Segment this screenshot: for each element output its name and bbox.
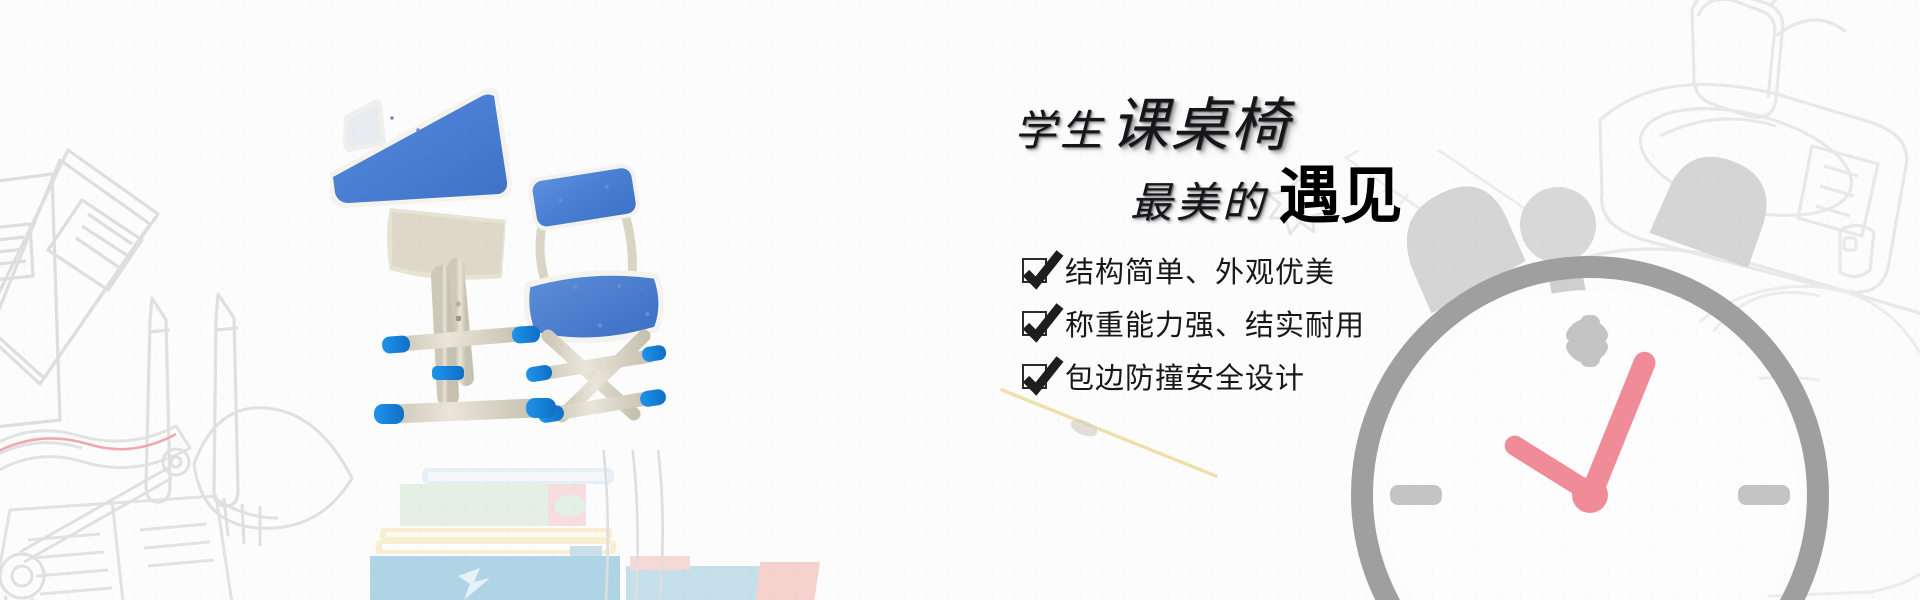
feature-list: 结构简单、外观优美 称重能力强、结实耐用 包边防撞安全设计 <box>1022 248 1502 407</box>
headline-group: 学生 课桌椅 最美的 遇见 <box>1010 96 1530 228</box>
checkbox-check-icon <box>1022 258 1047 283</box>
headline-line1-prefix: 学生 <box>1014 106 1106 155</box>
checkbox-check-icon <box>1022 364 1047 389</box>
student-desk-and-chair-photo <box>330 78 760 438</box>
checkbox-check-icon <box>1022 311 1047 336</box>
feature-item: 包边防撞安全设计 <box>1022 354 1502 398</box>
feature-item: 结构简单、外观优美 <box>1022 248 1502 292</box>
feature-label: 包边防撞安全设计 <box>1065 355 1305 397</box>
feature-item: 称重能力强、结实耐用 <box>1022 301 1502 345</box>
stacked-books-illustration <box>330 450 950 600</box>
headline-line2-prefix: 最美的 <box>1130 178 1268 227</box>
promo-banner: 学生 课桌椅 最美的 遇见 结构简单、外观优美 称重能力强、结实耐用 <box>0 0 1920 600</box>
headline-line2-accent: 遇见 <box>1278 162 1402 231</box>
headline-line-2: 最美的 遇见 <box>1010 166 1530 228</box>
headline-line-1: 学生 课桌椅 <box>1010 96 1530 154</box>
feature-label: 结构简单、外观优美 <box>1065 249 1335 291</box>
headline-line1-accent: 课桌椅 <box>1110 91 1290 159</box>
feature-label: 称重能力强、结实耐用 <box>1065 302 1365 344</box>
